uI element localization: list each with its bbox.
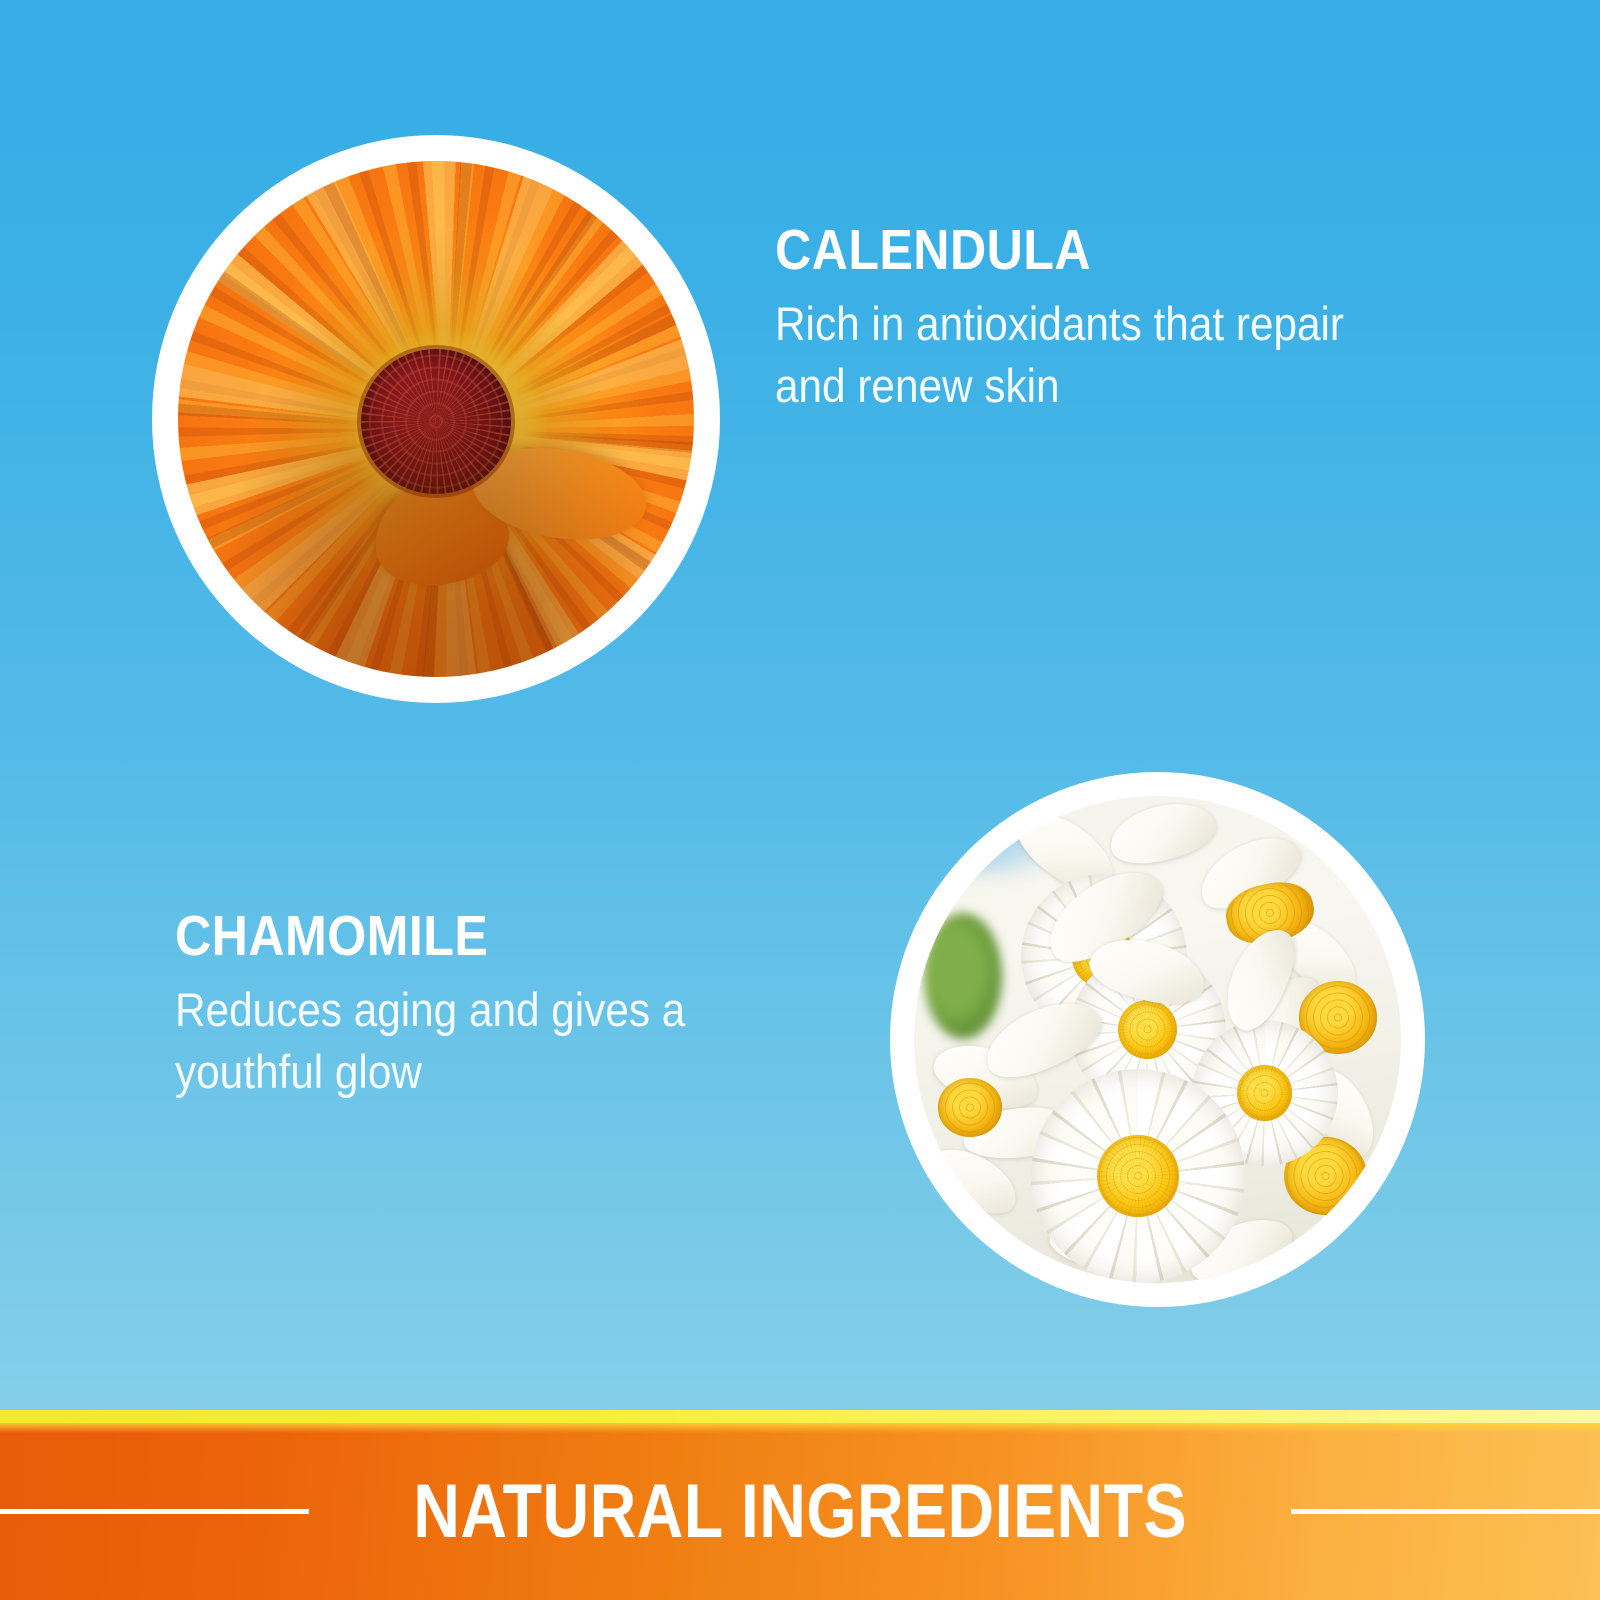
chamomile-title: CHAMOMILE — [175, 908, 773, 965]
chamomile-daisy — [1031, 1069, 1245, 1283]
calendula-title: CALENDULA — [775, 222, 1391, 279]
calendula-description: Rich in antioxidants that repair and ren… — [775, 293, 1405, 417]
banner-content: NATURAL INGREDIENTS — [0, 1423, 1600, 1600]
calendula-text-block: CALENDULA Rich in antioxidants that repa… — [775, 222, 1475, 417]
banner-divider-left — [0, 1509, 309, 1514]
natural-ingredients-banner: NATURAL INGREDIENTS — [0, 1410, 1600, 1600]
banner-title: NATURAL INGREDIENTS — [413, 1474, 1187, 1550]
calendula-bottom-shadow — [178, 161, 694, 677]
chamomile-daisy-center — [1237, 1065, 1293, 1121]
chamomile-description: Reduces aging and gives a youthful glow — [175, 979, 787, 1103]
chamomile-flower-bud — [938, 1078, 1001, 1136]
chamomile-daisy-center — [1097, 1135, 1178, 1216]
calendula-flower-photo — [178, 161, 694, 677]
chamomile-green-leaf — [924, 913, 1002, 1040]
banner-divider-right — [1291, 1509, 1600, 1514]
banner-accent-strip — [0, 1410, 1600, 1423]
calendula-image-badge — [152, 135, 720, 703]
chamomile-image-badge — [890, 772, 1425, 1307]
natural-ingredients-infographic: CALENDULA Rich in antioxidants that repa… — [0, 0, 1600, 1600]
chamomile-text-block: CHAMOMILE Reduces aging and gives a yout… — [175, 908, 855, 1103]
chamomile-flower-photo — [914, 796, 1401, 1283]
